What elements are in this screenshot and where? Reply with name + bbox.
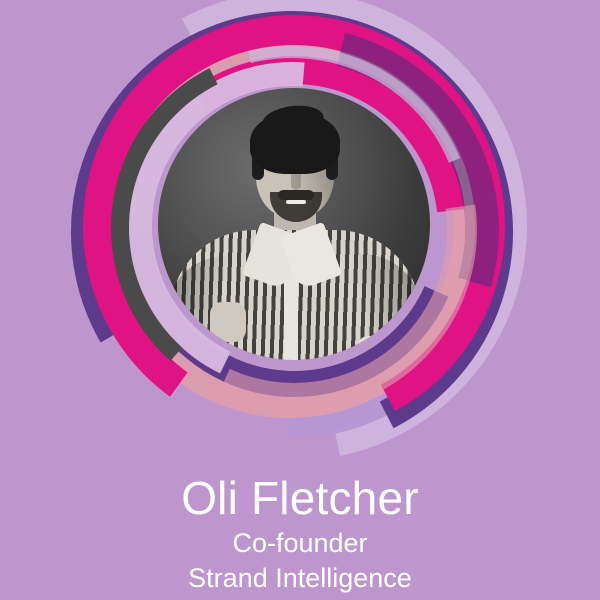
person-name: Oli Fletcher [0, 470, 600, 526]
portrait-photo [158, 88, 430, 360]
caption-block: Oli Fletcher Co-founder Strand Intellige… [0, 470, 600, 596]
portrait-mouth [286, 200, 306, 204]
speaker-profile-card: Oli Fletcher Co-founder Strand Intellige… [0, 0, 600, 600]
person-role: Co-founder [0, 526, 600, 561]
portrait-forearm-tattoo [366, 340, 394, 360]
portrait-hand [210, 302, 246, 342]
person-organisation: Strand Intelligence [0, 561, 600, 596]
portrait-moustache [278, 190, 314, 200]
